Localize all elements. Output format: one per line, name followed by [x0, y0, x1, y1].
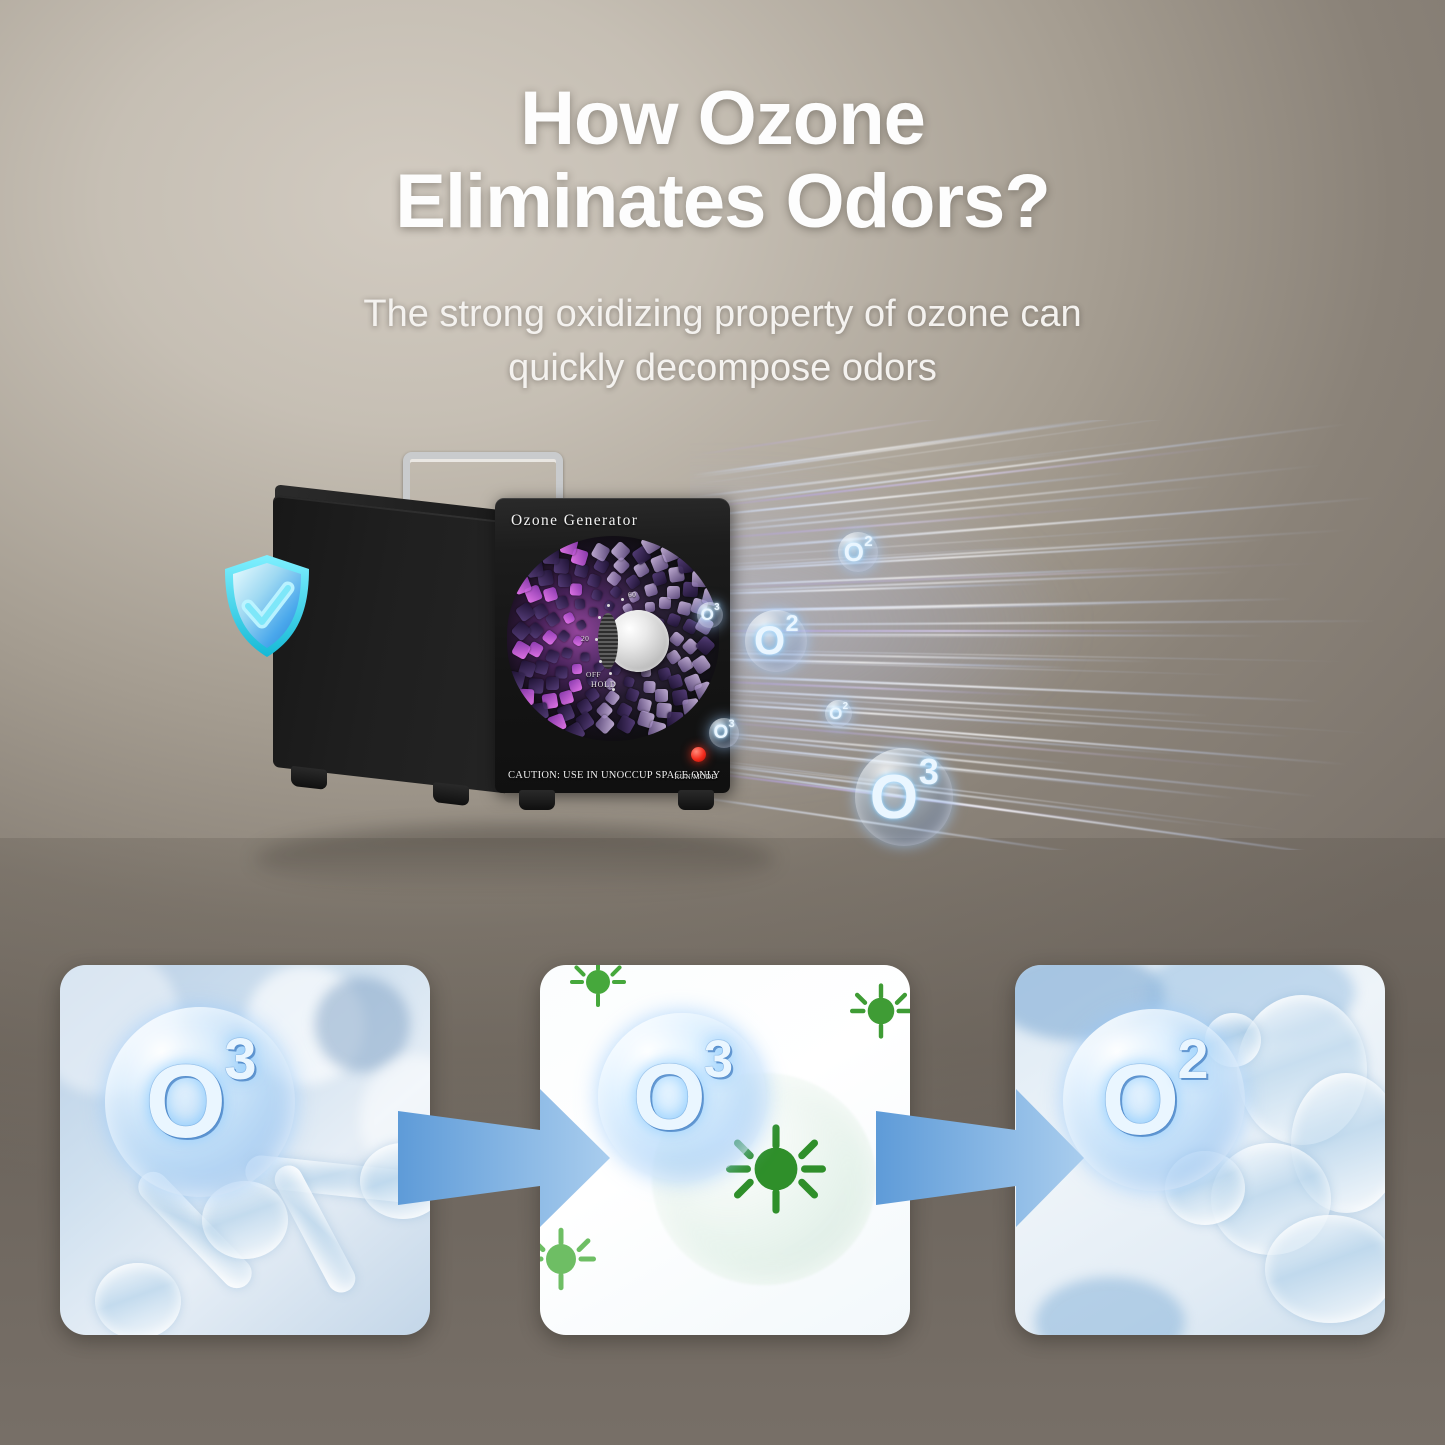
grille-cell	[558, 574, 571, 587]
molecule-bubble: O3	[855, 748, 953, 846]
grille-cell	[590, 588, 603, 601]
molecule-label: O3	[870, 762, 938, 833]
grille-cell	[575, 598, 586, 609]
panel-3-molecule-label: O2	[1102, 1043, 1207, 1158]
grille-cell	[647, 720, 666, 739]
grille-cell	[518, 688, 535, 705]
grille-cell	[511, 621, 531, 641]
grille-cell	[666, 612, 681, 627]
dial-tick	[609, 672, 612, 675]
grille-cell	[512, 641, 532, 661]
dial-mark-off: OFF	[586, 670, 601, 679]
grille-cell	[571, 663, 582, 674]
molecule-bubble: O3	[697, 602, 723, 628]
dial-tick	[598, 616, 601, 619]
molecule-label: O2	[754, 619, 798, 664]
grille-cell	[590, 542, 610, 562]
hero-product-scene: Ozone Generator 60 20 OFF HOLD CAUTION: …	[0, 430, 1445, 930]
hold-label: HOLD	[591, 680, 616, 689]
timer-knob[interactable]	[607, 610, 669, 672]
process-arrow-2	[876, 1083, 1084, 1233]
grille-cell	[534, 660, 550, 676]
grille-cell	[667, 586, 680, 599]
device-foot	[519, 790, 555, 810]
grille-cell	[576, 619, 587, 630]
molecule-label: O3	[714, 722, 735, 744]
molecule-bubble: O2	[745, 610, 807, 672]
grille-cell	[507, 670, 525, 689]
grille-cell	[616, 714, 636, 734]
grille-cell	[695, 635, 715, 655]
page-title-line-2: Eliminates Odors?	[0, 161, 1445, 244]
device-brand-label: Ozone Generator	[511, 512, 638, 530]
dial-tick	[621, 598, 624, 601]
heading-block: How Ozone Eliminates Odors? The strong o…	[0, 78, 1445, 396]
grille-cell	[623, 675, 636, 688]
panel-1-molecule-label: O3	[145, 1043, 254, 1162]
process-panels: O3	[0, 965, 1445, 1345]
page-subtitle-line-1: The strong oxidizing property of ozone c…	[0, 288, 1445, 342]
grille-cell	[531, 702, 549, 720]
surface-reflection	[255, 825, 775, 893]
grille-cell	[595, 714, 615, 734]
grille-cell	[546, 677, 559, 690]
germ-icon	[850, 983, 910, 1039]
dial-tick	[607, 604, 610, 607]
grille-cell	[655, 689, 668, 702]
grille-cell	[682, 698, 700, 716]
grille-cell	[560, 647, 573, 660]
grille-cell	[542, 548, 559, 565]
grille-cell	[570, 584, 582, 596]
grille-cell	[667, 711, 684, 728]
molecule-bubble: O2	[838, 532, 878, 572]
grille-cell	[588, 607, 597, 616]
page-subtitle-line-2: quickly decompose odors	[0, 342, 1445, 396]
page-title-line-1: How Ozone	[0, 78, 1445, 161]
grille-cell	[692, 571, 709, 588]
dial-tick	[595, 638, 598, 641]
grille-cell	[610, 541, 630, 561]
device-foot	[291, 766, 327, 790]
grille-cell	[541, 630, 557, 646]
dial-mark-20: 20	[581, 634, 589, 643]
safety-shield-icon	[220, 552, 314, 660]
grille-cell	[586, 574, 601, 589]
dial-tick	[599, 660, 602, 663]
grille-cell	[691, 654, 711, 674]
molecule-bubble: O2	[825, 700, 852, 727]
device-foot	[678, 790, 714, 810]
molecule-label: O3	[701, 605, 720, 625]
germ-icon	[540, 1227, 596, 1291]
dial-mark-60: 60	[628, 590, 636, 599]
grille-cell	[625, 687, 640, 702]
grille-cell	[562, 611, 575, 624]
panel-ozone-molecule: O3	[60, 965, 430, 1335]
grille-cell	[609, 585, 623, 599]
panel-2-molecule-label: O3	[633, 1043, 731, 1151]
process-arrow-1	[398, 1083, 610, 1233]
molecule-bubble: O3	[709, 718, 739, 748]
run-mode-label: RUN/MODE	[674, 772, 716, 781]
device-front-panel: Ozone Generator 60 20 OFF HOLD CAUTION: …	[495, 498, 730, 793]
infographic-stage: How Ozone Eliminates Odors? The strong o…	[0, 0, 1445, 1445]
grille-cell	[668, 673, 684, 689]
grille-cell	[581, 653, 590, 662]
device-foot	[433, 782, 469, 806]
grille-cell	[526, 560, 544, 578]
molecule-label: O2	[844, 537, 873, 568]
molecule-label: O2	[829, 704, 848, 724]
germ-icon	[570, 965, 626, 1007]
grille-cell	[515, 602, 535, 622]
run-indicator-led	[691, 747, 706, 762]
ozone-generator-device: Ozone Generator 60 20 OFF HOLD CAUTION: …	[273, 470, 753, 850]
grille-cell	[557, 628, 571, 642]
